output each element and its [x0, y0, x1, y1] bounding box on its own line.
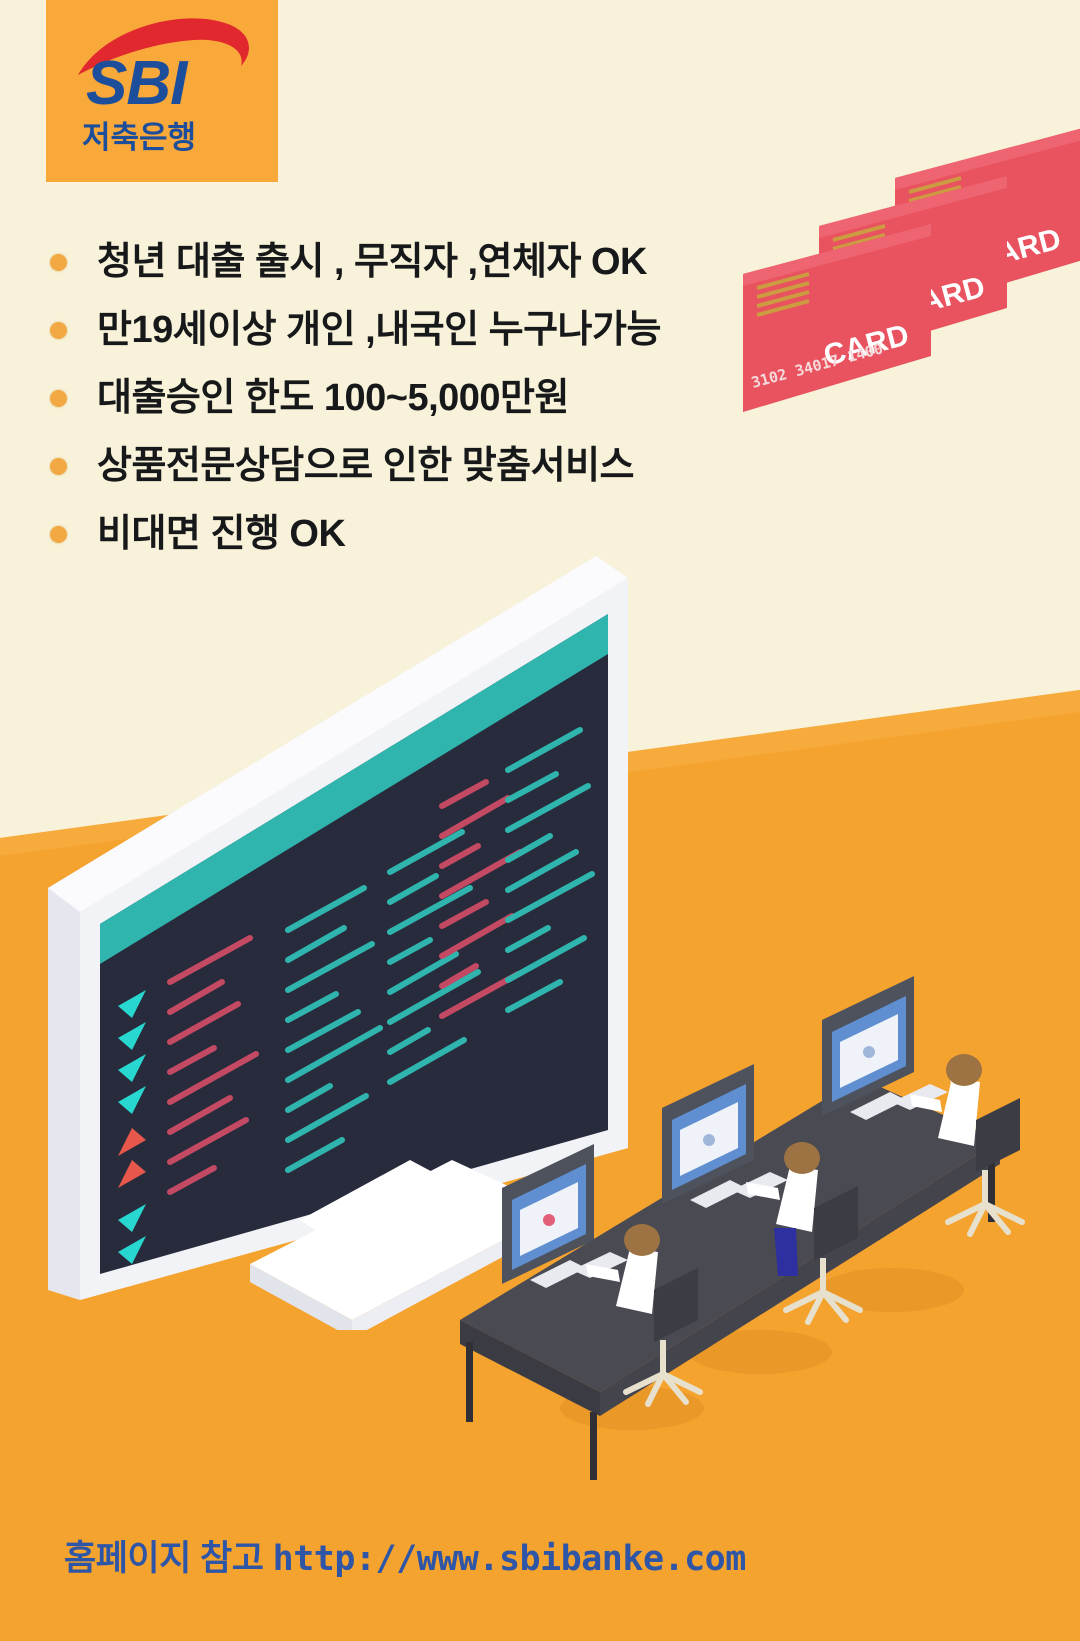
benefit-list: 청년 대출 출시 , 무직자 ,연체자 OK 만19세이상 개인 ,내국인 누구… [50, 228, 750, 568]
list-item: 상품전문상담으로 인한 맞춤서비스 [50, 432, 750, 500]
bullet-dot-icon [50, 390, 67, 407]
bullet-dot-icon [50, 322, 67, 339]
footer-website-text[interactable]: 홈페이지 참고 http://www.sbibanke.com [64, 1530, 746, 1581]
svg-text:SBI: SBI [86, 49, 189, 118]
list-item: 만19세이상 개인 ,내국인 누구나가능 [50, 296, 750, 364]
office-workers-isometric-icon [440, 960, 1040, 1480]
list-item-label: 청년 대출 출시 , 무직자 ,연체자 OK [97, 243, 647, 281]
list-item: 대출승인 한도 100~5,000만원 [50, 364, 750, 432]
list-item: 청년 대출 출시 , 무직자 ,연체자 OK [50, 228, 750, 296]
svg-text:저축은행: 저축은행 [82, 120, 196, 155]
bullet-dot-icon [50, 458, 67, 475]
sbi-logo-box: SBI 저축은행 [46, 0, 278, 182]
list-item-label: 비대면 진행 OK [97, 515, 345, 553]
credit-card-front: CARD 3102 34017 1400 [743, 224, 931, 412]
bullet-dot-icon [50, 526, 67, 543]
list-item-label: 대출승인 한도 100~5,000만원 [97, 379, 569, 417]
bullet-dot-icon [50, 254, 67, 271]
list-item: 비대면 진행 OK [50, 500, 750, 568]
list-item-label: 상품전문상담으로 인한 맞춤서비스 [97, 447, 634, 485]
credit-card-stack-icon: CARD 1400 CARD 1400 [735, 120, 1080, 480]
footer-url-label[interactable]: http://www.sbibanke.com [273, 1539, 746, 1579]
list-item-label: 만19세이상 개인 ,내국인 누구나가능 [97, 311, 661, 349]
sbi-bank-logo-icon: SBI 저축은행 [46, 0, 278, 182]
footer-prefix-label: 홈페이지 참고 [64, 1539, 273, 1578]
promotional-poster: SBI 저축은행 청년 대출 출시 , 무직자 ,연체자 OK 만19세이상 개… [0, 0, 1080, 1641]
